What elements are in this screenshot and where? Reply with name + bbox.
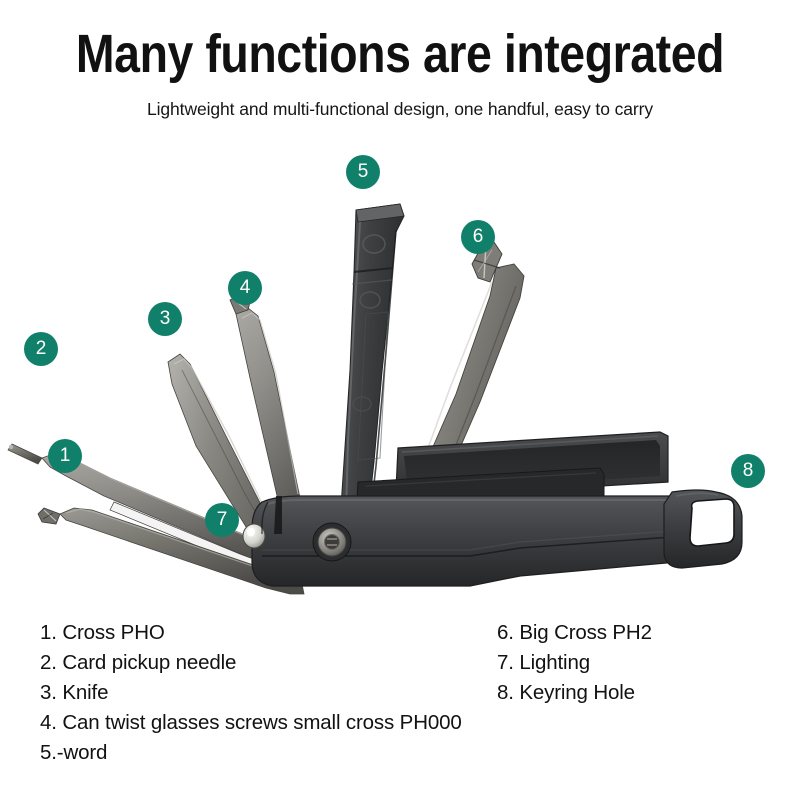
legend-item-4: 4. Can twist glasses screws small cross …	[40, 708, 510, 738]
callout-badge-5[interactable]: 5	[346, 155, 380, 189]
callout-badge-1[interactable]: 1	[48, 439, 82, 473]
callout-badge-7[interactable]: 7	[205, 503, 239, 537]
legend-item-6: 6. Big Cross PH2	[497, 618, 797, 648]
callout-badge-4[interactable]: 4	[228, 271, 262, 305]
keyring-end	[664, 490, 742, 568]
callout-badge-6[interactable]: 6	[461, 220, 495, 254]
infographic-page: Many functions are integrated Lightweigh…	[0, 0, 800, 800]
callout-badge-8[interactable]: 8	[731, 454, 765, 488]
page-title: Many functions are integrated	[56, 26, 744, 82]
callout-badge-2[interactable]: 2	[24, 332, 58, 366]
legend-item-5: 5.-word	[40, 738, 510, 768]
product-illustration: inch	[0, 130, 800, 600]
legend-item-3: 3. Knife	[40, 678, 510, 708]
page-subtitle: Lightweight and multi-functional design,…	[0, 97, 800, 121]
legend-item-7: 7. Lighting	[497, 648, 797, 678]
callout-badge-3[interactable]: 3	[148, 302, 182, 336]
legend-item-1: 1. Cross PHO	[40, 618, 510, 648]
keyring-hole-icon	[690, 499, 734, 546]
legend-column-right: 6. Big Cross PH2 7. Lighting 8. Keyring …	[497, 618, 797, 708]
legend-item-8: 8. Keyring Hole	[497, 678, 797, 708]
legend-column-left: 1. Cross PHO 2. Card pickup needle 3. Kn…	[40, 618, 510, 768]
tool-5-flat-word-driver	[340, 204, 404, 526]
pivot-screw-icon	[313, 523, 351, 561]
legend: 1. Cross PHO 2. Card pickup needle 3. Kn…	[0, 618, 800, 793]
legend-item-2: 2. Card pickup needle	[40, 648, 510, 678]
